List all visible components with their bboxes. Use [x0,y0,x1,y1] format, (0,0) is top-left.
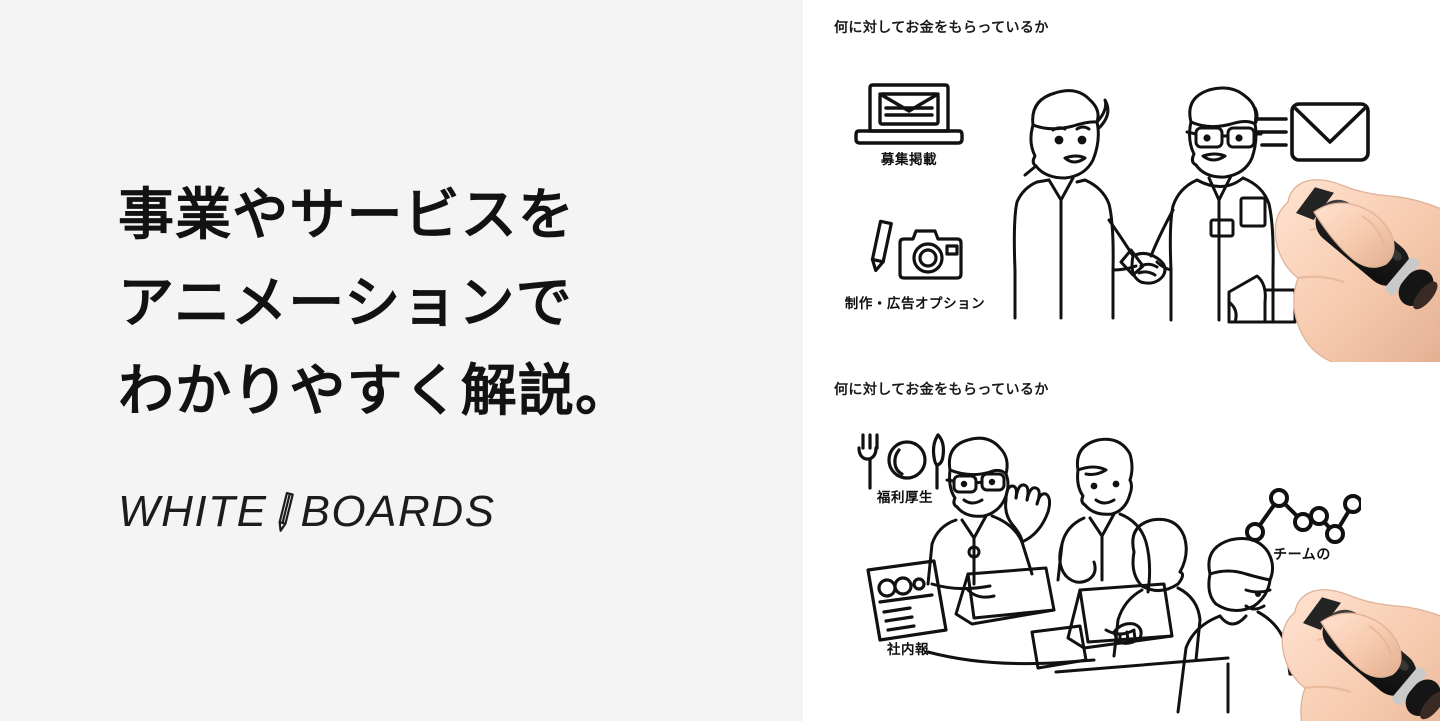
right-panel: 何に対してお金をもらっているか 募集掲載 [803,0,1440,721]
hand-with-marker-top [1258,120,1440,362]
handshake-illustration [973,70,1303,330]
headline-line-3: わかりやすく解説。 [118,348,738,436]
board-top: 何に対してお金をもらっているか 募集掲載 [803,0,1440,362]
board-top-title: 何に対してお金をもらっているか [834,17,1049,37]
headline-line-1: 事業やサービスを [118,172,738,260]
left-panel: 事業やサービスを アニメーションで わかりやすく解説。 WHITE BOARDS [0,0,803,721]
headline-line-2: アニメーションで [118,260,738,348]
laptop-icon [853,82,965,154]
board-bottom: 何に対してお金をもらっているか 福利厚生 [803,362,1440,721]
hand-with-marker-bottom [1265,530,1440,721]
board-bottom-title: 何に対してお金をもらっているか [834,379,1049,399]
camera-pencil-icon [861,218,971,288]
pencil-icon [269,490,299,534]
label-recruit-posting: 募集掲載 [853,148,965,168]
page-title: 事業やサービスを アニメーションで わかりやすく解説。 [118,172,738,436]
logo-word-white: WHITE [118,490,267,534]
hero-screenshot: 事業やサービスを アニメーションで わかりやすく解説。 WHITE BOARDS [0,0,1440,721]
logo-word-boards: BOARDS [300,490,495,534]
brand-logo[interactable]: WHITE BOARDS [118,486,496,538]
